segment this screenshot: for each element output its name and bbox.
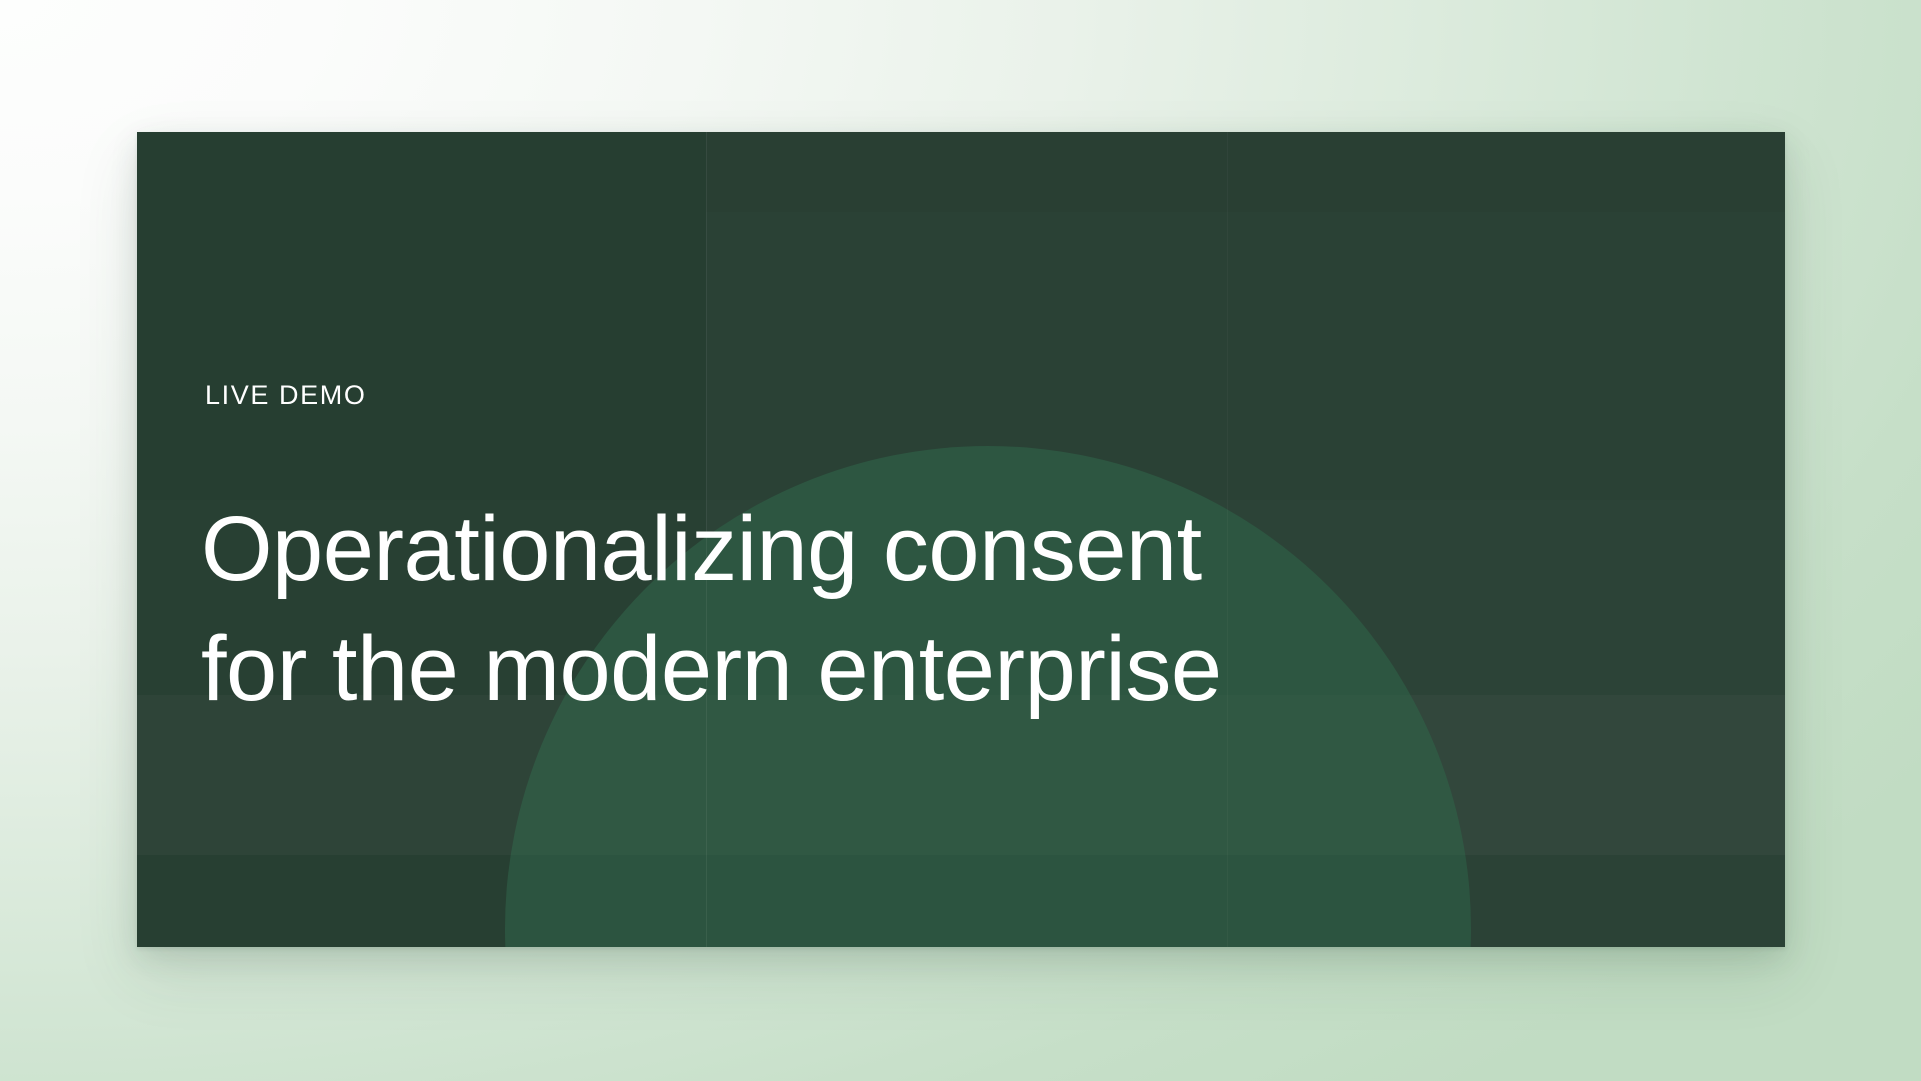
slide-headline: Operationalizing consent for the modern … [201,490,1221,729]
slide-canvas: LIVE DEMO Operationalizing consent for t… [0,0,1921,1081]
headline-line-1: Operationalizing consent [201,490,1221,610]
headline-line-2: for the modern enterprise [201,610,1221,730]
slide-content: LIVE DEMO Operationalizing consent for t… [205,132,1785,947]
slide-eyebrow-label: LIVE DEMO [205,382,366,409]
presentation-slide-card[interactable]: LIVE DEMO Operationalizing consent for t… [137,132,1785,947]
